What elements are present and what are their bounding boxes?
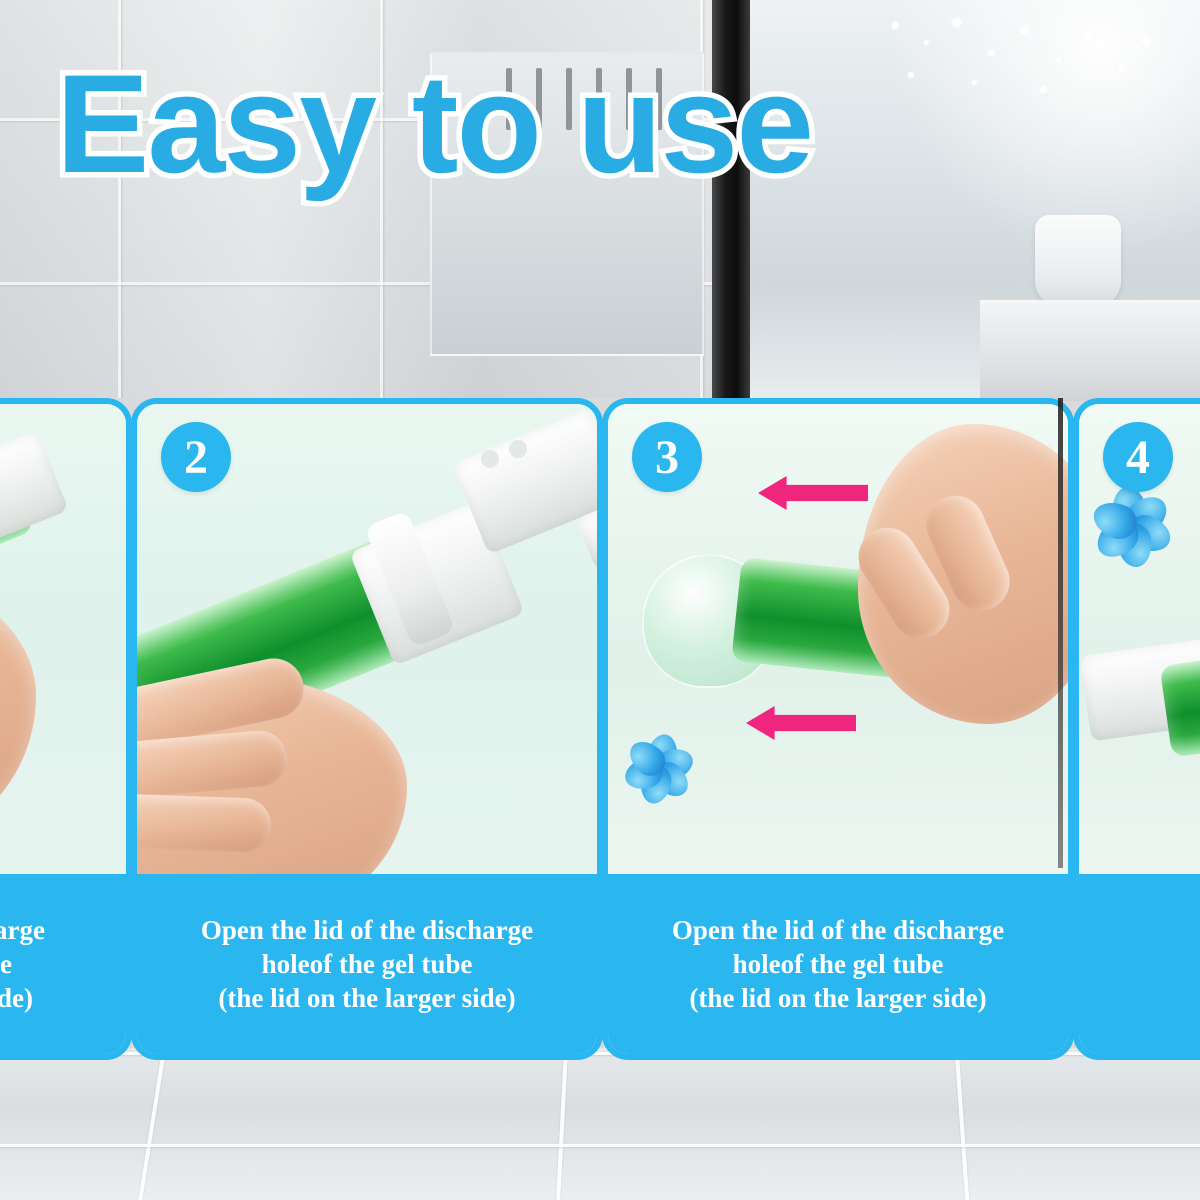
floor-grout-line	[0, 1144, 1200, 1147]
step-badge-3: 3	[632, 422, 702, 492]
step-badge-4: 4	[1103, 422, 1173, 492]
tube-cap	[0, 430, 69, 543]
finger	[137, 793, 272, 853]
step-card-1[interactable]: charge e side)	[0, 398, 132, 1060]
step-card-4[interactable]: 4 Open t hole (the lid	[1073, 398, 1200, 1060]
vanity-counter	[980, 300, 1200, 401]
step-caption-2: Open the lid of the discharge holeof the…	[137, 874, 597, 1054]
step-card-2[interactable]: 2 Open the lid of the discharge holeof t…	[131, 398, 603, 1060]
screenshot-root: Easy to use charge e side) 2	[0, 0, 1200, 1200]
steps-row: charge e side) 2 Open the lid of the dis…	[0, 398, 1200, 1048]
step-caption-1: charge e side)	[0, 874, 126, 1054]
floor-tiles	[0, 1048, 1200, 1200]
page-title: Easy to use	[56, 54, 1156, 194]
card-edge-shadow	[1058, 398, 1063, 868]
gel-flower-icon	[616, 727, 703, 811]
cap-notch	[481, 450, 499, 468]
step-photo-1	[0, 404, 126, 874]
step-card-3[interactable]: 3 Open the	[602, 398, 1074, 1060]
sink-basin	[1035, 215, 1121, 307]
gel-flower-icon	[1084, 481, 1179, 573]
step-badge-2: 2	[161, 422, 231, 492]
cap-notch	[509, 440, 527, 458]
step-caption-4: Open t hole (the lid	[1079, 874, 1200, 1054]
step-caption-3: Open the lid of the discharge holeof the…	[608, 874, 1068, 1054]
hand	[0, 574, 36, 844]
